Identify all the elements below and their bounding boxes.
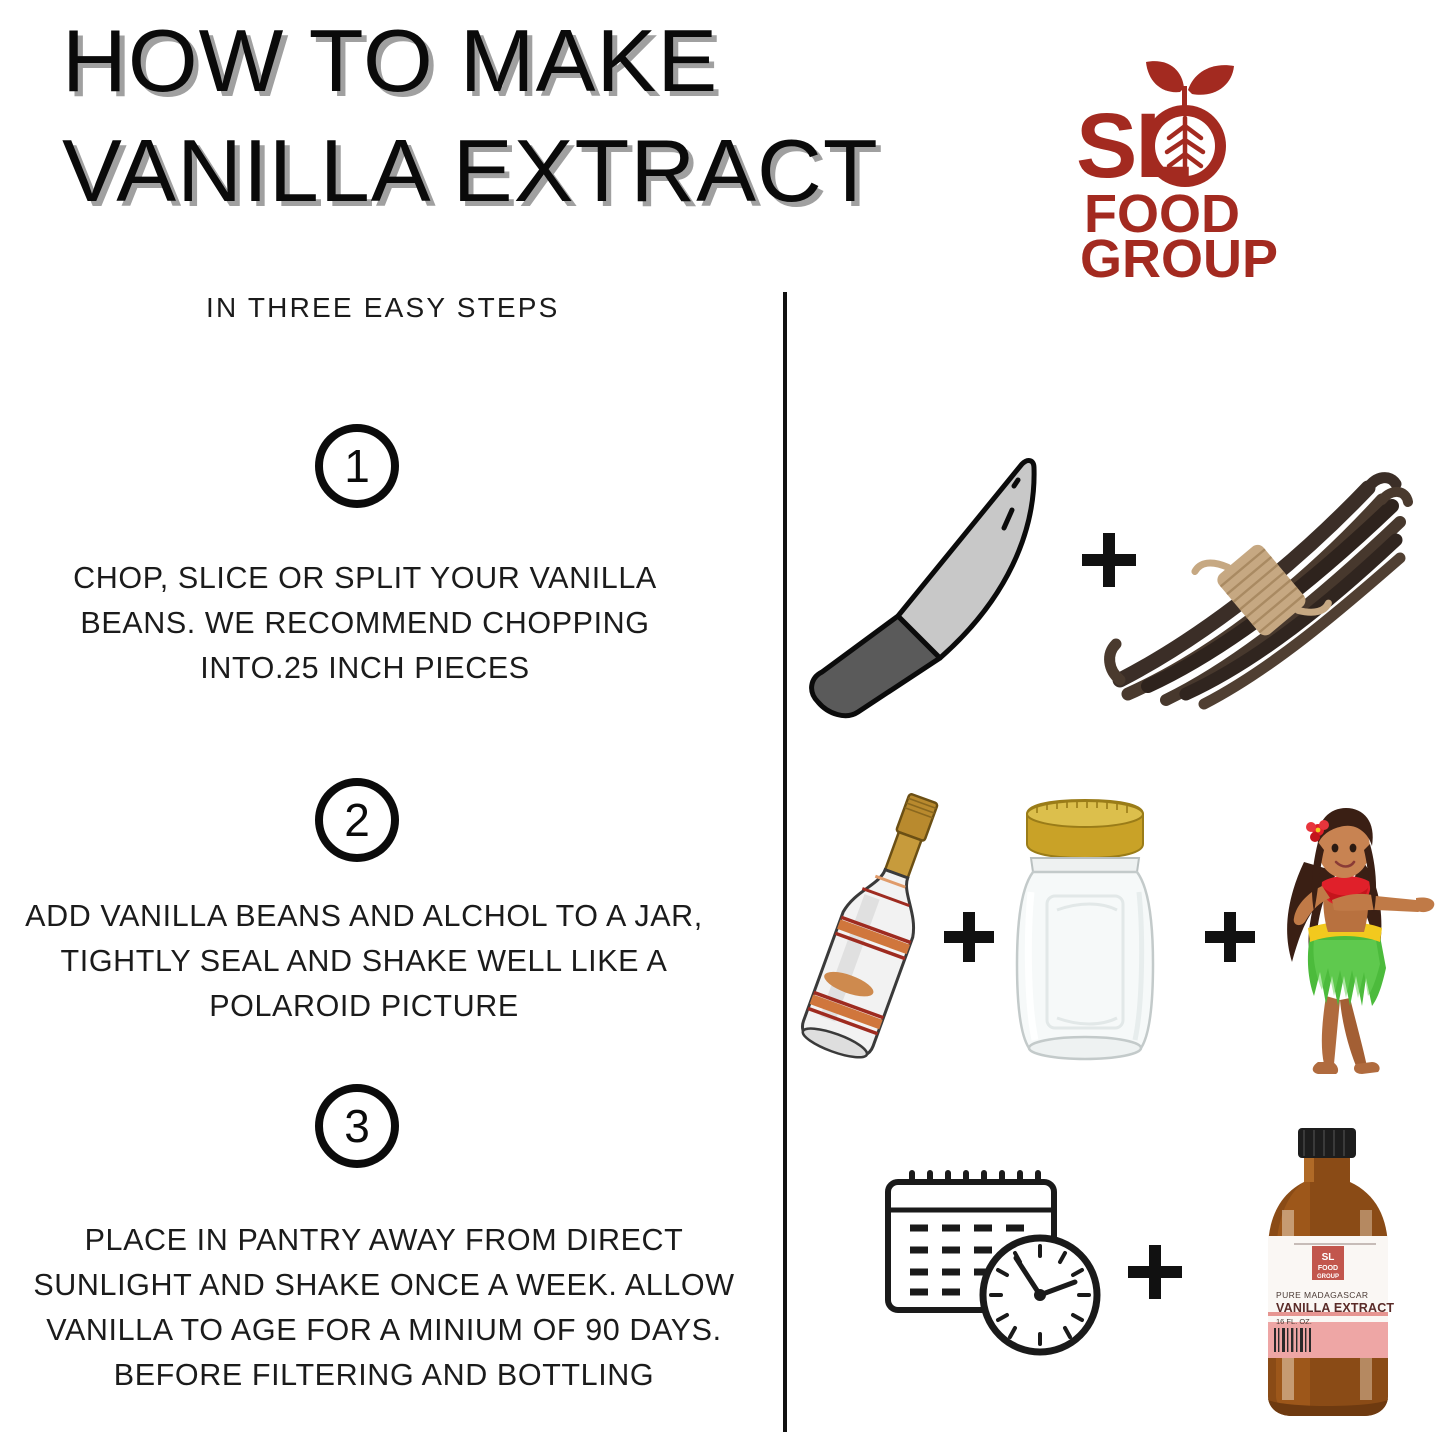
- label-origin: PURE MADAGASCAR: [1276, 1290, 1368, 1300]
- step-number-1: 1: [315, 424, 399, 508]
- svg-text:GROUP: GROUP: [1080, 229, 1278, 278]
- hula-dancer-icon: [1252, 800, 1442, 1085]
- svg-text:SL: SL: [1076, 95, 1190, 197]
- step-text-1: CHOP, SLICE OR SPLIT YOUR VANILLA BEANS.…: [30, 556, 700, 691]
- slo-food-group-logo: SL FOOD GROUP: [1062, 34, 1292, 278]
- page-title: HOW TO MAKE VANILLA EXTRACT: [62, 6, 922, 226]
- step-text-2: ADD VANILLA BEANS AND ALCHOL TO A JAR, T…: [8, 894, 720, 1029]
- label-product: VANILLA EXTRACT: [1276, 1301, 1394, 1315]
- chef-knife-icon: [800, 440, 1100, 740]
- plus-icon: [1128, 1245, 1182, 1299]
- calendar-clock-icon: [880, 1170, 1130, 1395]
- vodka-bottle-icon: [786, 782, 966, 1072]
- title-line-1: HOW TO MAKE: [62, 6, 939, 116]
- vanilla-extract-bottle-icon: SL FOOD GROUP PURE MADAGASCAR VANILLA EX…: [1248, 1124, 1408, 1424]
- step-number-2: 2: [315, 778, 399, 862]
- subtitle: IN THREE EASY STEPS: [206, 292, 560, 324]
- label-brand-line3: GROUP: [1317, 1274, 1339, 1280]
- plus-icon: [1205, 912, 1255, 962]
- label-brand-line2: FOOD: [1318, 1265, 1338, 1272]
- mason-jar-icon: [995, 792, 1175, 1072]
- label-brand-line1: SL: [1322, 1252, 1335, 1263]
- step-number-3: 3: [315, 1084, 399, 1168]
- infographic-canvas: HOW TO MAKE VANILLA EXTRACT IN THREE EAS…: [0, 0, 1445, 1445]
- title-line-2: VANILLA EXTRACT: [62, 116, 939, 226]
- step-text-3: PLACE IN PANTRY AWAY FROM DIRECT SUNLIGH…: [4, 1218, 764, 1398]
- vanilla-bean-bundle-icon: [1100, 448, 1430, 728]
- label-volume: 16 FL. OZ.: [1276, 1317, 1312, 1326]
